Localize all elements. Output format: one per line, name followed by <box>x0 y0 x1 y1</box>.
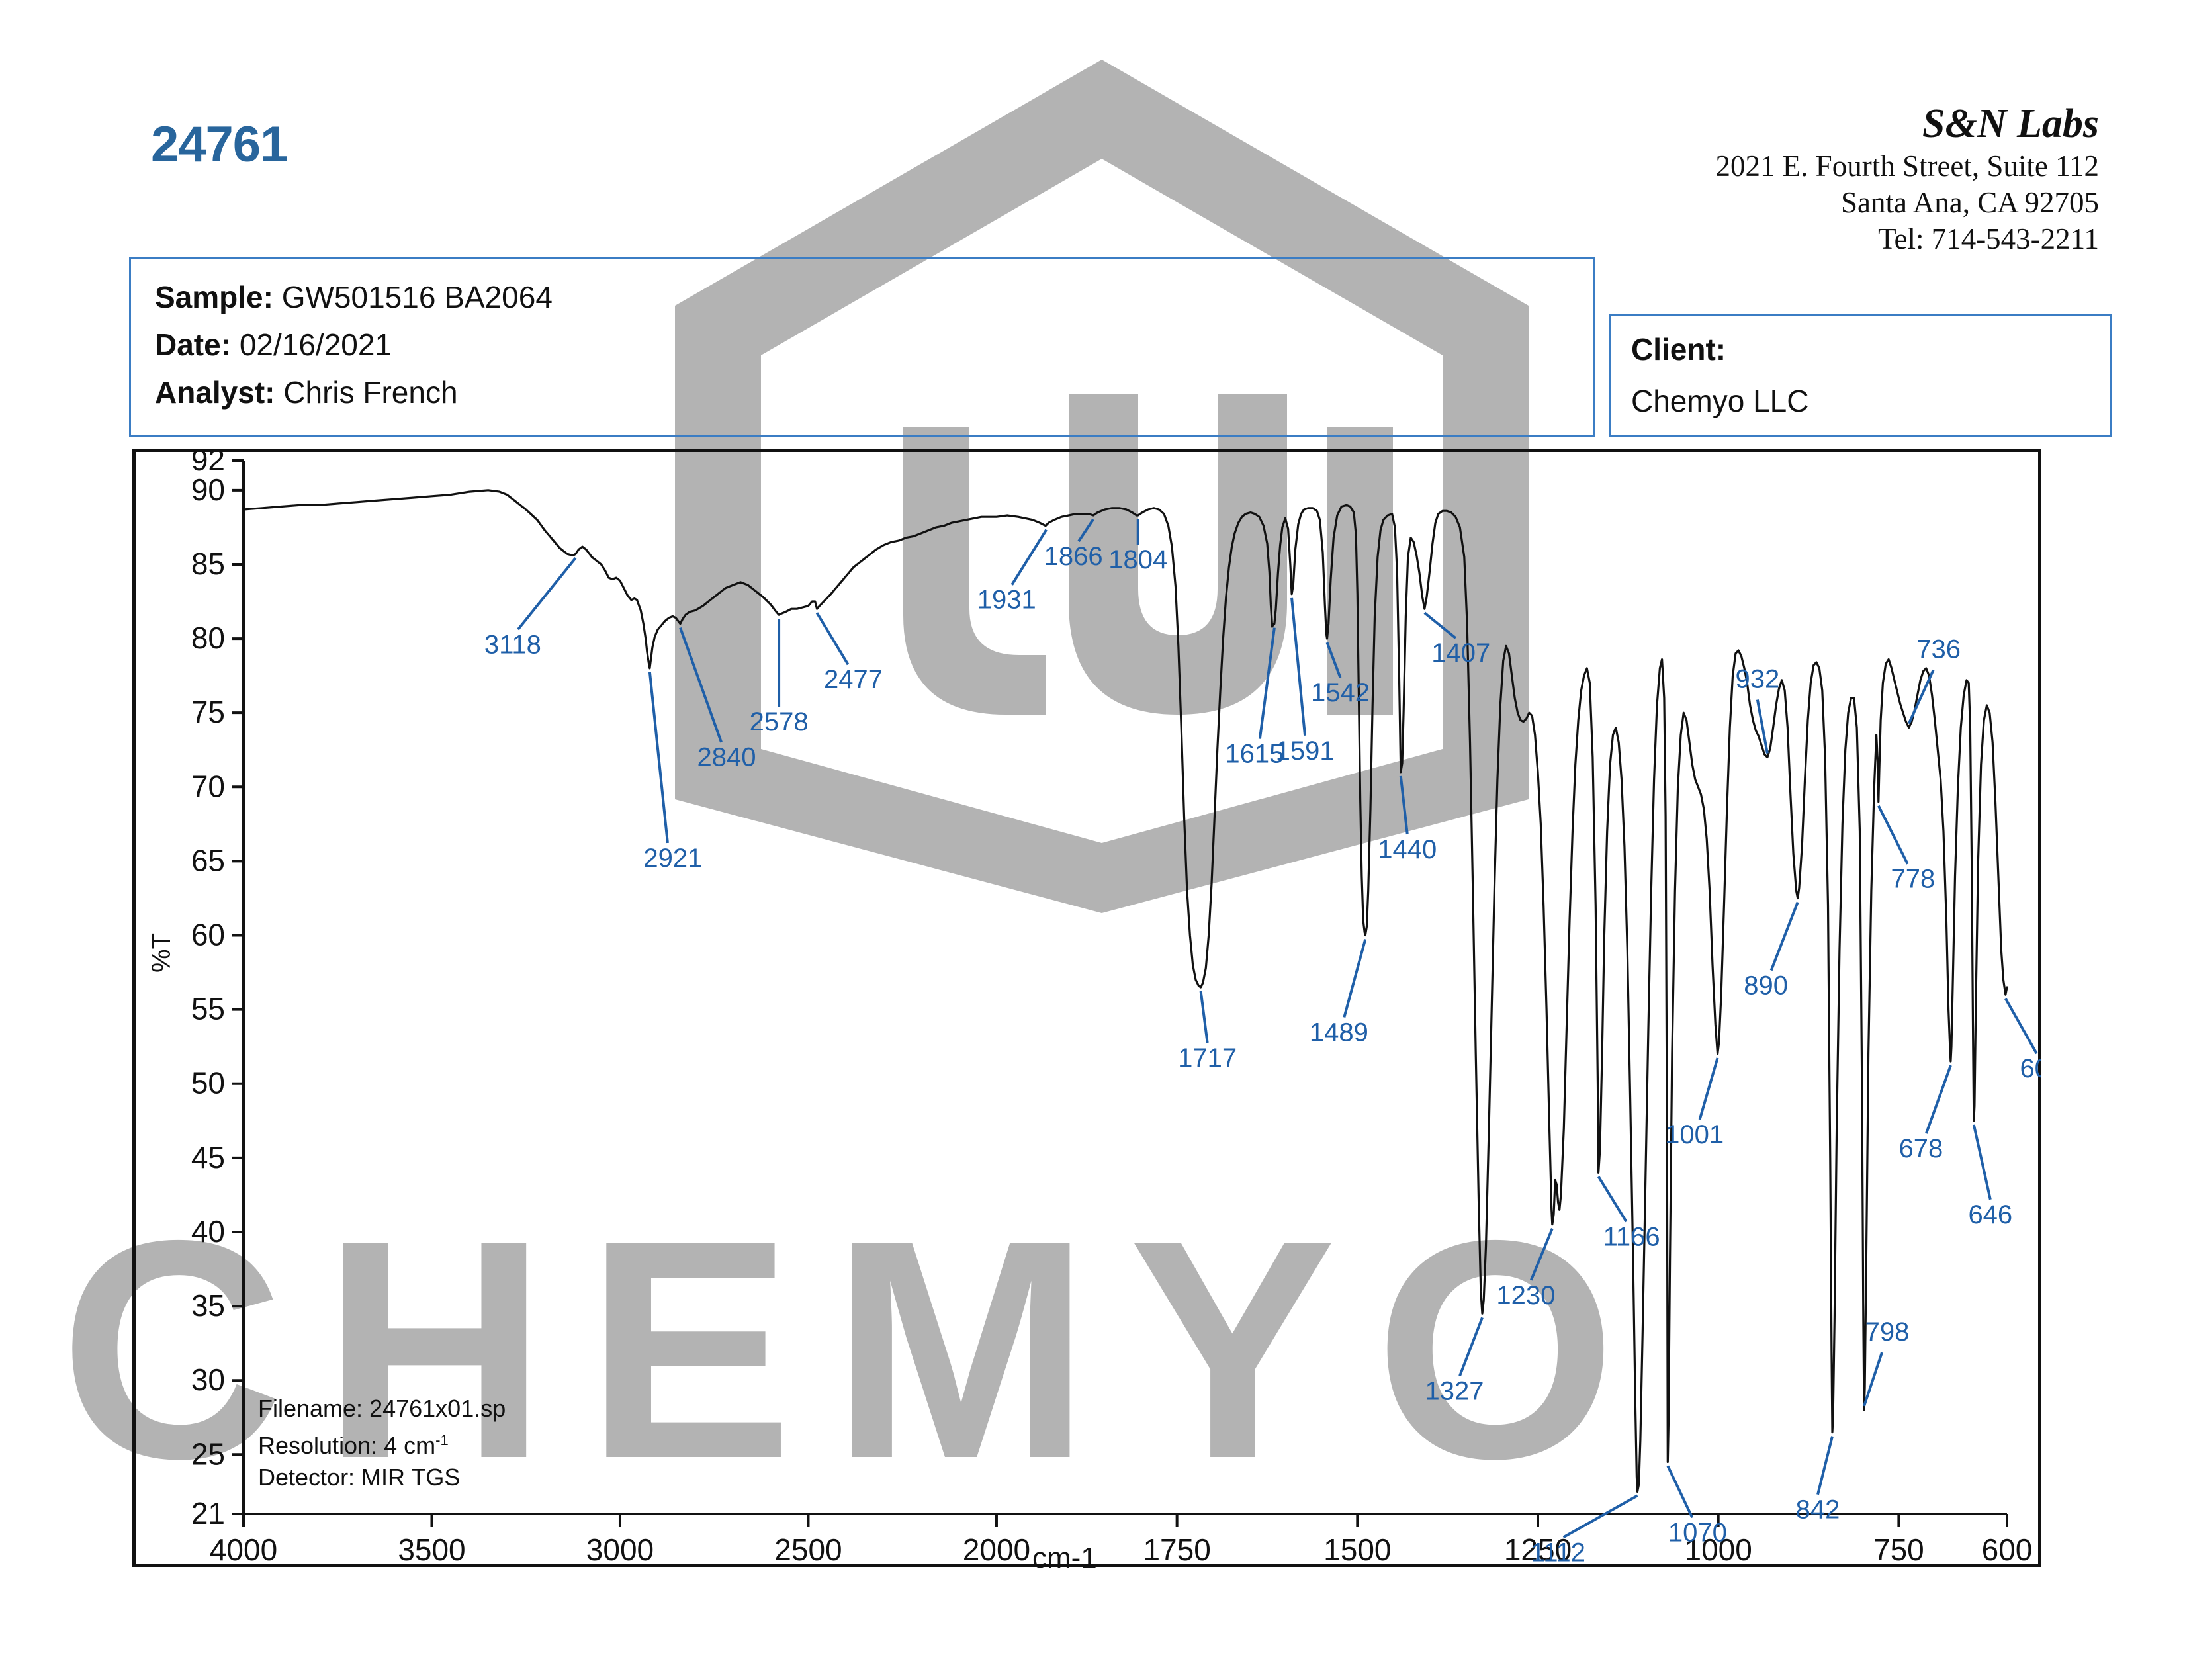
svg-text:80: 80 <box>191 621 225 655</box>
peak-label-1166: 1166 <box>1603 1222 1660 1251</box>
peak-label-1070: 1070 <box>1668 1519 1727 1548</box>
peak-label-1931: 1931 <box>977 586 1036 615</box>
sample-label: Sample: <box>155 280 273 314</box>
sample-info-box: Sample: GW501516 BA2064 Date: 02/16/2021… <box>129 257 1595 437</box>
peak-label-2477: 2477 <box>824 665 883 694</box>
client-value: Chemyo LLC <box>1611 375 2110 427</box>
svg-text:1500: 1500 <box>1323 1532 1391 1567</box>
sample-value: GW501516 BA2064 <box>282 280 553 314</box>
svg-text:70: 70 <box>191 769 225 803</box>
peak-label-1591: 1591 <box>1276 736 1335 766</box>
peak-label-2578: 2578 <box>750 707 809 736</box>
svg-text:50: 50 <box>191 1066 225 1100</box>
report-page: CHEMYO 24761 S&N Labs 2021 E. Fourth Str… <box>0 0 2185 1680</box>
filename-line: Filename: 24761x01.sp <box>258 1393 506 1425</box>
svg-text:25: 25 <box>191 1437 225 1471</box>
svg-text:90: 90 <box>191 472 225 507</box>
svg-text:75: 75 <box>191 695 225 729</box>
analyst-value: Chris French <box>283 375 457 410</box>
sample-row: Sample: GW501516 BA2064 <box>131 259 1593 321</box>
peak-label-1001: 1001 <box>1665 1120 1724 1149</box>
detector-line: Detector: MIR TGS <box>258 1462 506 1493</box>
client-info-box: Client: Chemyo LLC <box>1609 314 2112 437</box>
peak-label-1440: 1440 <box>1378 835 1437 864</box>
svg-text:55: 55 <box>191 992 225 1026</box>
date-row: Date: 02/16/2021 <box>131 321 1593 369</box>
svg-text:2000: 2000 <box>963 1532 1030 1567</box>
svg-text:85: 85 <box>191 547 225 581</box>
y-axis-label: %T <box>147 933 177 973</box>
svg-text:21: 21 <box>191 1496 225 1530</box>
peak-label-1407: 1407 <box>1431 639 1490 668</box>
client-label: Client: <box>1611 316 2110 375</box>
svg-text:3000: 3000 <box>586 1532 654 1567</box>
lab-address-line-1: 2021 E. Fourth Street, Suite 112 <box>1715 148 2099 185</box>
svg-text:1750: 1750 <box>1143 1532 1210 1567</box>
svg-text:750: 750 <box>1873 1532 1924 1567</box>
acquisition-metadata: Filename: 24761x01.sp Resolution: 4 cm-1… <box>258 1393 506 1493</box>
svg-text:4000: 4000 <box>210 1532 277 1567</box>
peak-label-1489: 1489 <box>1310 1018 1368 1047</box>
svg-text:600: 600 <box>1982 1532 2033 1567</box>
peak-label-842: 842 <box>1796 1495 1840 1525</box>
peak-label-2840: 2840 <box>697 743 756 772</box>
svg-text:45: 45 <box>191 1140 225 1174</box>
date-label: Date: <box>155 328 231 362</box>
peak-label-736: 736 <box>1916 635 1961 664</box>
svg-text:30: 30 <box>191 1362 225 1397</box>
peak-label-1866: 1866 <box>1044 542 1103 571</box>
peak-label-778: 778 <box>1891 865 1935 894</box>
resolution-line: Resolution: 4 cm-1 <box>258 1425 506 1462</box>
peak-label-890: 890 <box>1744 971 1788 1000</box>
peak-label-798: 798 <box>1865 1317 1910 1347</box>
svg-text:60: 60 <box>191 918 225 952</box>
peak-label-3118: 3118 <box>484 630 541 659</box>
analyst-label: Analyst: <box>155 375 275 410</box>
lab-address-line-2: Santa Ana, CA 92705 <box>1715 185 2099 221</box>
peak-label-1327: 1327 <box>1425 1376 1484 1405</box>
peak-label-1230: 1230 <box>1496 1281 1555 1310</box>
date-value: 02/16/2021 <box>240 328 392 362</box>
peak-label-1804: 1804 <box>1108 545 1167 574</box>
resolution-exponent: -1 <box>435 1432 449 1448</box>
svg-text:65: 65 <box>191 843 225 877</box>
svg-text:35: 35 <box>191 1288 225 1323</box>
page-title: 24761 <box>151 116 287 173</box>
lab-phone: Tel: 714-543-2211 <box>1715 221 2099 257</box>
peak-label-1542: 1542 <box>1311 678 1370 707</box>
peak-label-2921: 2921 <box>643 844 702 873</box>
lab-name: S&N Labs <box>1715 99 2099 148</box>
svg-text:2500: 2500 <box>774 1532 842 1567</box>
lab-header: S&N Labs 2021 E. Fourth Street, Suite 11… <box>1715 99 2099 257</box>
peak-label-1112: 1112 <box>1531 1538 1585 1567</box>
x-axis-label: cm-1 <box>1032 1542 1097 1575</box>
analyst-row: Analyst: Chris French <box>131 369 1593 416</box>
svg-text:3500: 3500 <box>398 1532 465 1567</box>
peak-label-646: 646 <box>1968 1200 2012 1229</box>
peak-label-1717: 1717 <box>1178 1043 1237 1073</box>
svg-text:40: 40 <box>191 1214 225 1249</box>
peak-label-602: 602 <box>2020 1054 2041 1083</box>
peak-label-678: 678 <box>1899 1134 1943 1163</box>
peak-label-932: 932 <box>1735 664 1779 693</box>
